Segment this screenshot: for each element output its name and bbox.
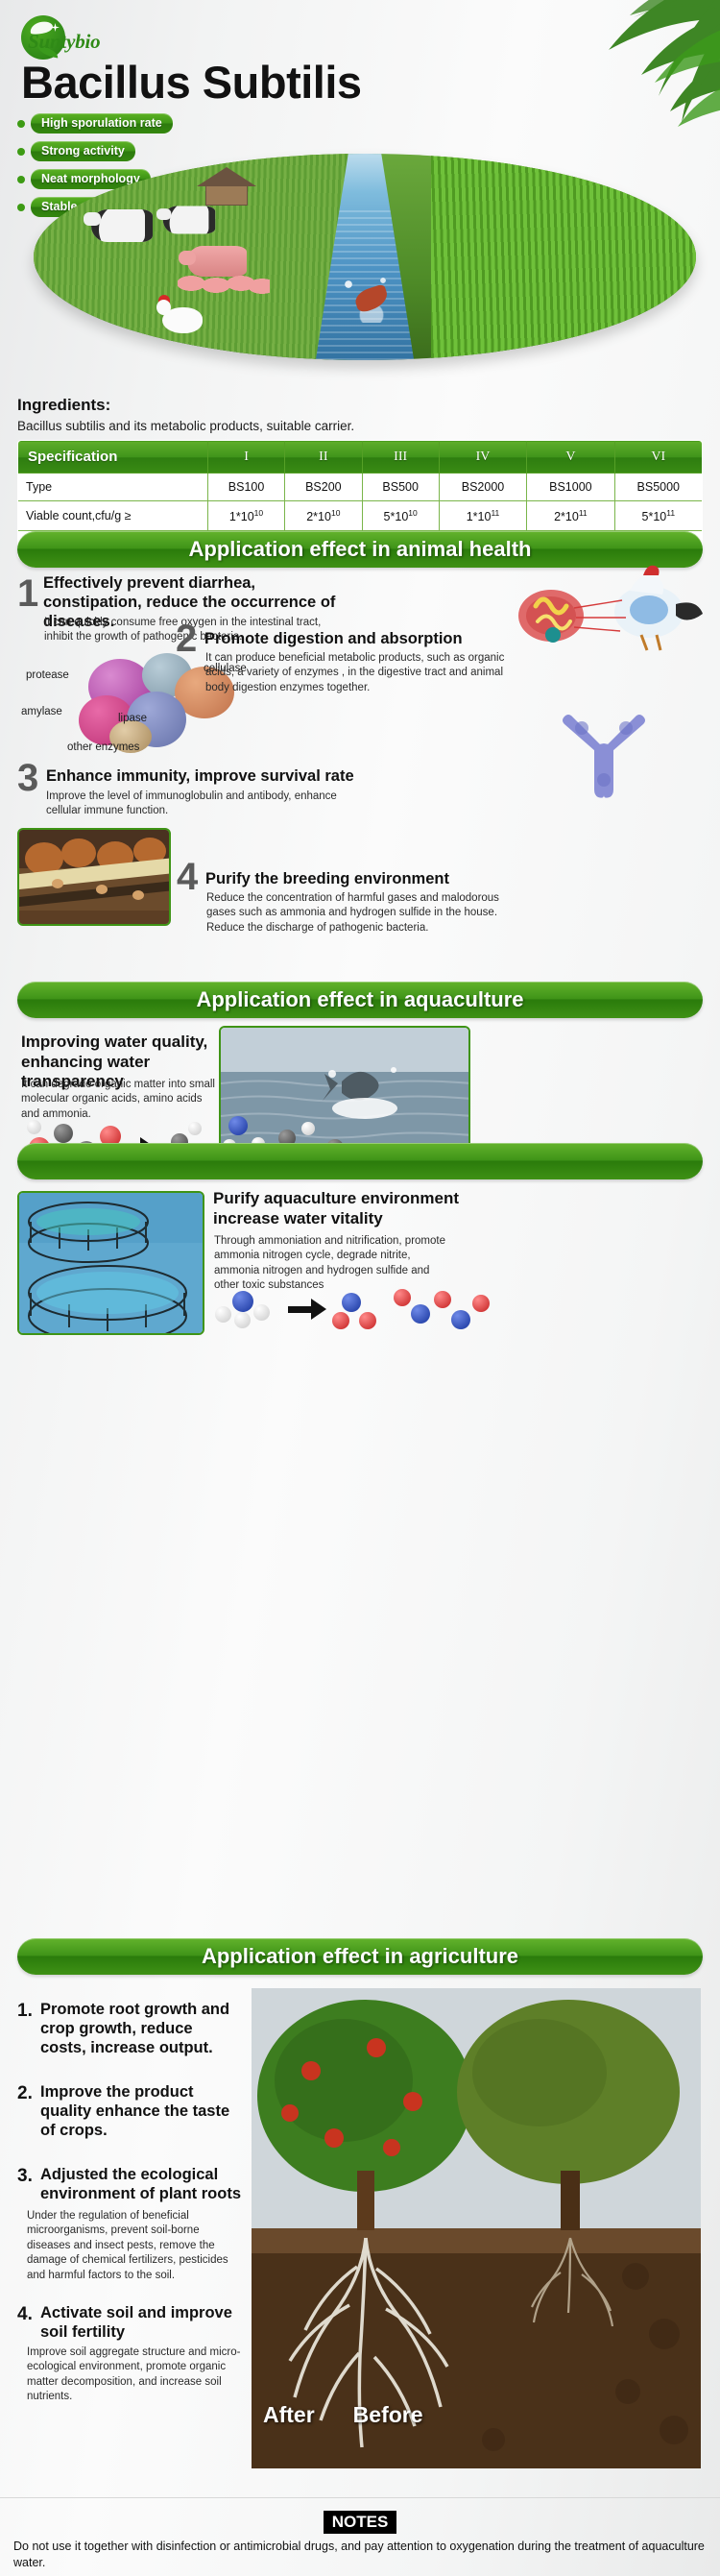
chicken-anatomy-image xyxy=(515,562,707,653)
table-cell: 5*1011 xyxy=(614,501,702,531)
table-cell: BS500 xyxy=(362,474,439,501)
notes-text: Do not use it together with disinfection… xyxy=(0,2539,720,2570)
banner-agriculture-dup xyxy=(17,1143,703,1179)
bullet-dot-icon xyxy=(17,120,25,128)
item-body-4: Reduce the concentration of harmful gase… xyxy=(206,891,523,936)
atom-nitrogen xyxy=(342,1293,361,1312)
item-heading-3: Enhance immunity, improve survival rate xyxy=(46,766,392,786)
aqua-item-heading-2: Purify aquaculture environment increase … xyxy=(213,1189,492,1228)
atom-red xyxy=(472,1295,490,1312)
bullet-dot-icon xyxy=(17,176,25,183)
banner-agriculture: Application effect in agriculture xyxy=(17,1938,703,1975)
ingredients-text: Bacillus subtilis and its metabolic prod… xyxy=(17,419,354,433)
item-heading-2: Promote digestion and absorption xyxy=(204,629,526,648)
reaction-arrow-head-2 xyxy=(311,1299,326,1320)
row-label-type: Type xyxy=(18,474,208,501)
agri-item-body-3: Under the regulation of beneficial micro… xyxy=(27,2209,246,2283)
atom-red xyxy=(332,1312,349,1329)
table-header-i: I xyxy=(207,441,284,474)
table-row: Type BS100 BS200 BS500 BS2000 BS1000 BS5… xyxy=(18,474,703,501)
label-after: After xyxy=(263,2402,315,2428)
atom-carbon xyxy=(54,1124,73,1143)
poultry-house-photo xyxy=(17,828,171,926)
agri-item-heading-1: Promote root growth and crop growth, red… xyxy=(40,2000,242,2057)
reaction-arrow-stem-2 xyxy=(288,1306,311,1313)
page-title: Bacillus Subtilis xyxy=(21,56,362,109)
table-cell: BS2000 xyxy=(439,474,526,501)
table-row: Viable count,cfu/g ≥ 1*1010 2*1010 5*101… xyxy=(18,501,703,531)
atom-hydrogen xyxy=(27,1120,41,1134)
atom-hydrogen xyxy=(301,1122,315,1135)
atom-nitrogen xyxy=(451,1310,470,1329)
crop-field-wedge xyxy=(431,154,696,360)
table-cell: 2*1011 xyxy=(527,501,614,531)
label-before: Before xyxy=(353,2402,423,2428)
table-header-row: Specification I II III IV V VI xyxy=(18,441,703,474)
table-cell: 1*1011 xyxy=(439,501,526,531)
atom-nitrogen xyxy=(411,1304,430,1324)
piglets-icon xyxy=(178,273,270,294)
hero-collage-image xyxy=(34,154,696,375)
table-header-specification: Specification xyxy=(18,441,208,474)
cow-icon xyxy=(163,207,215,234)
table-cell: BS200 xyxy=(285,474,362,501)
atom-red xyxy=(359,1312,376,1329)
banner-animal-health-label: Application effect in animal health xyxy=(189,537,532,562)
atom-red xyxy=(394,1289,411,1306)
cow-icon xyxy=(91,209,153,242)
item-body-2: It can produce beneficial metabolic prod… xyxy=(205,651,522,695)
banner-aquaculture-label: Application effect in aquaculture xyxy=(196,987,523,1012)
farm-house-icon xyxy=(197,167,256,206)
after-before-labels: After Before xyxy=(252,2394,701,2436)
bullet-dot-icon xyxy=(17,204,25,211)
header-section: Suntybio Bacillus Subtilis High sporulat… xyxy=(0,0,720,384)
table-header-v: V xyxy=(527,441,614,474)
nitrate-molecules xyxy=(338,1283,492,1339)
enzyme-label-amylase: amylase xyxy=(21,706,62,717)
table-header-ii: II xyxy=(285,441,362,474)
enzyme-label-protease: protease xyxy=(26,669,69,681)
table-cell: 5*1010 xyxy=(362,501,439,531)
notes-section: NOTES Do not use it together with disinf… xyxy=(0,2511,720,2570)
atom-nitrogen xyxy=(232,1291,253,1312)
hen-icon xyxy=(156,300,208,336)
brand-logo[interactable]: Suntybio xyxy=(21,15,165,60)
table-header-iii: III xyxy=(362,441,439,474)
item-heading-4: Purify the breeding environment xyxy=(205,869,532,888)
notes-badge: NOTES xyxy=(324,2511,396,2534)
table-header-vi: VI xyxy=(614,441,702,474)
atom-hydrogen xyxy=(215,1306,231,1323)
table-cell: 2*1010 xyxy=(285,501,362,531)
item-number-3: 3 xyxy=(17,759,38,797)
item-number-1: 1 xyxy=(17,574,38,613)
atom-hydrogen xyxy=(234,1312,251,1328)
pie-disc xyxy=(34,154,696,360)
banner-aquaculture: Application effect in aquaculture xyxy=(17,982,703,1018)
feature-item: High sporulation rate xyxy=(17,113,173,134)
aquaculture-cages-photo xyxy=(17,1191,204,1335)
table-cell: BS5000 xyxy=(614,474,702,501)
item-body-3: Improve the level of immunoglobulin and … xyxy=(46,790,363,819)
atom-nitrogen xyxy=(228,1116,248,1135)
banner-agriculture-label: Application effect in agriculture xyxy=(202,1944,518,1969)
feature-pill-label: High sporulation rate xyxy=(31,113,173,134)
atom-hydrogen xyxy=(188,1122,202,1135)
atom-hydrogen xyxy=(253,1304,270,1321)
item-number-2: 2 xyxy=(176,620,197,658)
table-cell: BS1000 xyxy=(527,474,614,501)
bullet-dot-icon xyxy=(17,148,25,156)
antibody-molecule-image xyxy=(563,711,645,799)
row-label-viable-count: Viable count,cfu/g ≥ xyxy=(18,501,208,531)
agri-item-heading-2: Improve the product quality enhance the … xyxy=(40,2082,242,2140)
atom-red xyxy=(434,1291,451,1308)
agri-item-heading-3: Adjusted the ecological environment of p… xyxy=(40,2165,247,2203)
enzyme-label-other-enzymes: other enzymes xyxy=(67,741,139,753)
table-header-iv: IV xyxy=(439,441,526,474)
enzyme-label-lipase: lipase xyxy=(118,713,147,724)
notes-badge-label: NOTES xyxy=(332,2513,389,2531)
agri-item-body-4: Improve soil aggregate structure and mic… xyxy=(27,2345,246,2405)
brand-name: Suntybio xyxy=(28,30,162,54)
agri-item-heading-4: Activate soil and improve soil fertility xyxy=(40,2303,247,2342)
footer-divider xyxy=(0,2497,720,2498)
table-cell: 1*1010 xyxy=(207,501,284,531)
table-cell: BS100 xyxy=(207,474,284,501)
infographic-page: Suntybio Bacillus Subtilis High sporulat… xyxy=(0,0,720,2576)
item-number-4: 4 xyxy=(177,858,198,896)
ingredients-heading: Ingredients: xyxy=(17,396,110,415)
